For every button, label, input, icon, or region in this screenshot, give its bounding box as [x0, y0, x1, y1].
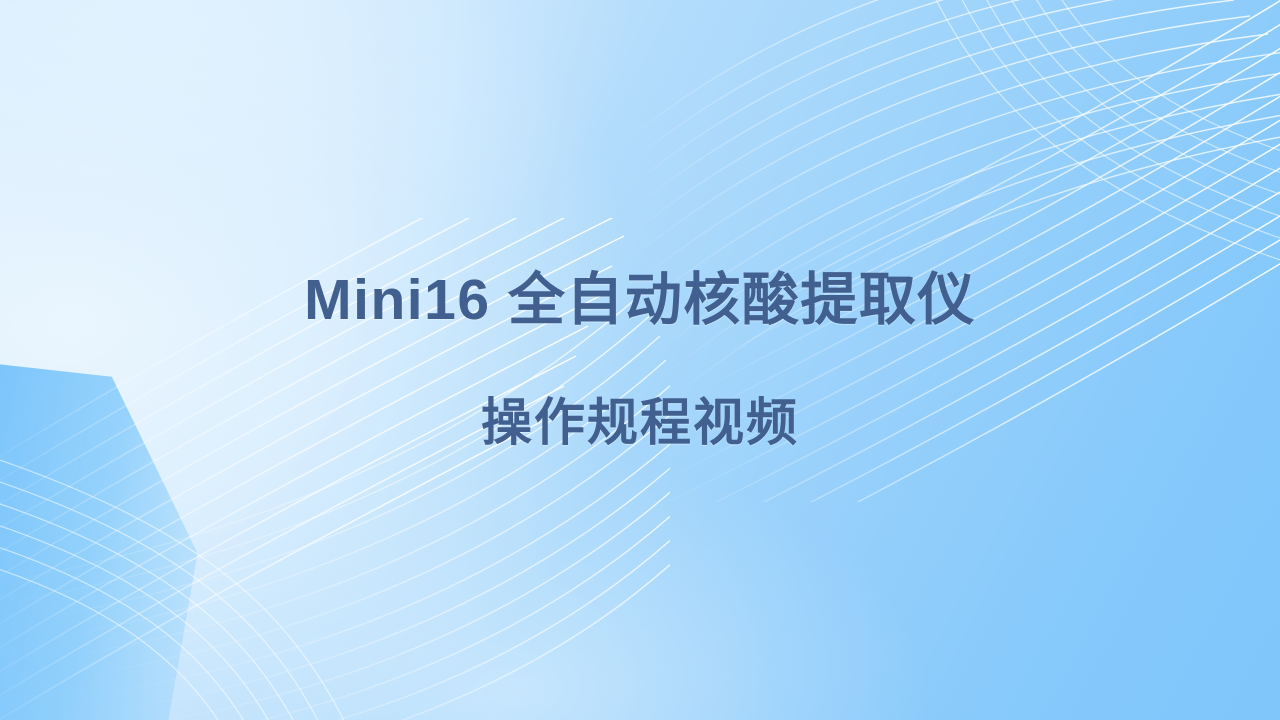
title-slide: Mini16 全自动核酸提取仪 操作规程视频 — [0, 0, 1280, 720]
title-block: Mini16 全自动核酸提取仪 操作规程视频 — [0, 0, 1280, 720]
slide-title: Mini16 全自动核酸提取仪 — [304, 269, 976, 332]
slide-subtitle: 操作规程视频 — [481, 395, 799, 451]
